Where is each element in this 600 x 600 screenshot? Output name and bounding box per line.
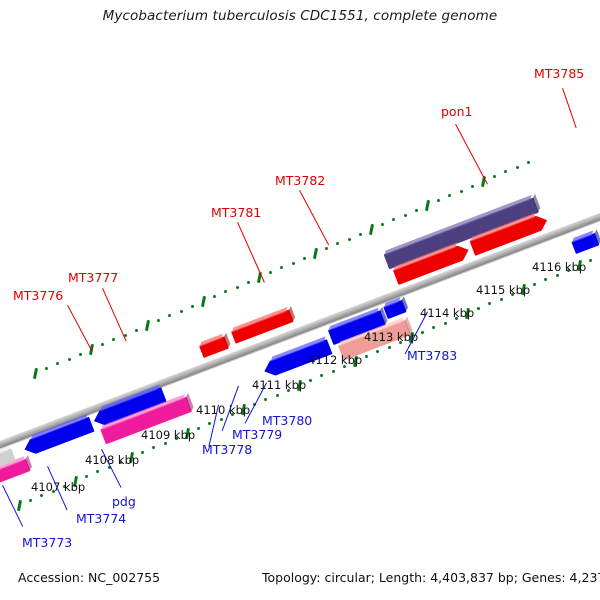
ruler-tick-major <box>201 296 206 307</box>
gene-label-pdg[interactable]: pdg <box>112 494 136 509</box>
ruler-tick-minor <box>112 338 115 341</box>
gene-label-MT3778[interactable]: MT3778 <box>202 442 252 457</box>
ruler-tick-minor <box>79 353 82 356</box>
ruler-tick-minor <box>392 218 395 221</box>
ruler-tick-minor <box>493 175 496 178</box>
ruler-tick-minor <box>236 286 239 289</box>
leader-line-MT3781 <box>237 222 265 283</box>
ruler-tick-minor <box>247 281 250 284</box>
ruler-tick-minor <box>516 166 519 169</box>
ruler-tick-minor <box>141 451 144 454</box>
ruler-tick-minor <box>359 233 362 236</box>
gene-label-MT3785[interactable]: MT3785 <box>534 66 584 81</box>
ruler-tick-minor <box>303 257 306 260</box>
ruler-tick-minor <box>191 305 194 308</box>
leader-line-pon1 <box>455 124 488 185</box>
ruler-tick-minor <box>45 367 48 370</box>
gene-label-MT3774[interactable]: MT3774 <box>76 511 126 526</box>
ruler-label-4110: 4110 kbp <box>196 403 250 417</box>
leader-line-MT3776 <box>67 305 92 351</box>
ruler-tick-minor <box>332 370 335 373</box>
ruler-tick-minor <box>388 346 391 349</box>
ruler-tick-minor <box>213 295 216 298</box>
gene-label-pon1[interactable]: pon1 <box>441 104 472 119</box>
ruler-tick-minor <box>381 223 384 226</box>
ruler-tick-minor <box>157 319 160 322</box>
ruler-tick-minor <box>264 398 267 401</box>
ruler-tick-major <box>33 368 38 379</box>
ruler-tick-minor <box>488 302 491 305</box>
ruler-tick-minor <box>325 247 328 250</box>
ruler-tick-minor <box>448 194 451 197</box>
ruler-tick-minor <box>180 310 183 313</box>
gene-MT3779-tail[interactable] <box>383 300 406 319</box>
ruler-tick-minor <box>471 185 474 188</box>
ruler-tick-major <box>145 320 150 331</box>
ruler-tick-minor <box>135 329 138 332</box>
ruler-label-4108: 4108 kbp <box>85 453 139 467</box>
ruler-tick-minor <box>500 298 503 301</box>
ruler-tick-minor <box>415 209 418 212</box>
ruler-label-4109: 4109 kbp <box>141 428 195 442</box>
gene-label-MT3783[interactable]: MT3783 <box>407 348 457 363</box>
gene-label-MT3782[interactable]: MT3782 <box>275 173 325 188</box>
leader-line-MT3777 <box>102 288 127 341</box>
ruler-tick-minor <box>220 418 223 421</box>
gene-label-MT3776[interactable]: MT3776 <box>13 288 63 303</box>
ruler-tick-minor <box>68 358 71 361</box>
genome-stats-text: Topology: circular; Length: 4,403,837 bp… <box>262 570 600 585</box>
ruler-tick-minor <box>437 199 440 202</box>
ruler-tick-minor <box>85 475 88 478</box>
leader-line-MT3782 <box>299 190 329 245</box>
ruler-tick-minor <box>269 271 272 274</box>
ruler-tick-minor <box>432 326 435 329</box>
ruler-tick-minor <box>533 283 536 286</box>
ruler-tick-minor <box>336 242 339 245</box>
ruler-tick-minor <box>168 314 171 317</box>
ruler-tick-minor <box>444 322 447 325</box>
ruler-tick-minor <box>197 427 200 430</box>
ruler-tick-minor <box>556 274 559 277</box>
ruler-tick-minor <box>376 350 379 353</box>
genome-map-canvas: Mycobacterium tuberculosis CDC1551, comp… <box>0 0 600 600</box>
ruler-label-4114: 4114 kbp <box>420 306 474 320</box>
ruler-tick-major <box>425 200 430 211</box>
ruler-tick-minor <box>309 379 312 382</box>
ruler-tick-minor <box>292 262 295 265</box>
ruler-tick-major <box>17 500 22 511</box>
ruler-tick-minor <box>527 161 530 164</box>
ruler-tick-minor <box>544 278 547 281</box>
accession-text: Accession: NC_002755 <box>18 570 160 585</box>
ruler-tick-minor <box>224 290 227 293</box>
gene-label-MT3777[interactable]: MT3777 <box>68 270 118 285</box>
ruler-tick-minor <box>365 355 368 358</box>
gene-label-MT3780[interactable]: MT3780 <box>262 413 312 428</box>
gene-label-MT3781[interactable]: MT3781 <box>211 205 261 220</box>
ruler-tick-minor <box>96 470 99 473</box>
ruler-tick-major <box>313 248 318 259</box>
ruler-tick-minor <box>208 422 211 425</box>
ruler-tick-minor <box>152 446 155 449</box>
ruler-tick-minor <box>101 343 104 346</box>
gene-label-MT3779[interactable]: MT3779 <box>232 427 282 442</box>
ruler-tick-minor <box>421 331 424 334</box>
ruler-label-4115: 4115 kbp <box>476 283 530 297</box>
ruler-label-4111: 4111 kbp <box>252 378 306 392</box>
ruler-tick-minor <box>404 214 407 217</box>
ruler-label-4116: 4116 kbp <box>532 260 586 274</box>
ruler-tick-minor <box>164 442 167 445</box>
leader-line-MT3785 <box>562 88 577 128</box>
ruler-tick-minor <box>29 499 32 502</box>
gene-label-MT3773[interactable]: MT3773 <box>22 535 72 550</box>
ruler-tick-minor <box>276 394 279 397</box>
ruler-tick-minor <box>40 494 43 497</box>
ruler-tick-minor <box>477 307 480 310</box>
ruler-tick-minor <box>460 190 463 193</box>
ruler-tick-minor <box>504 170 507 173</box>
ruler-tick-major <box>369 224 374 235</box>
ruler-tick-minor <box>280 266 283 269</box>
ruler-tick-minor <box>320 374 323 377</box>
ruler-label-4112: 4112 kbp <box>308 353 362 367</box>
ruler-tick-minor <box>348 238 351 241</box>
page-title: Mycobacterium tuberculosis CDC1551, comp… <box>0 8 600 24</box>
gene-MT3783[interactable] <box>571 233 599 254</box>
ruler-tick-minor <box>589 259 592 262</box>
ruler-tick-minor <box>56 362 59 365</box>
